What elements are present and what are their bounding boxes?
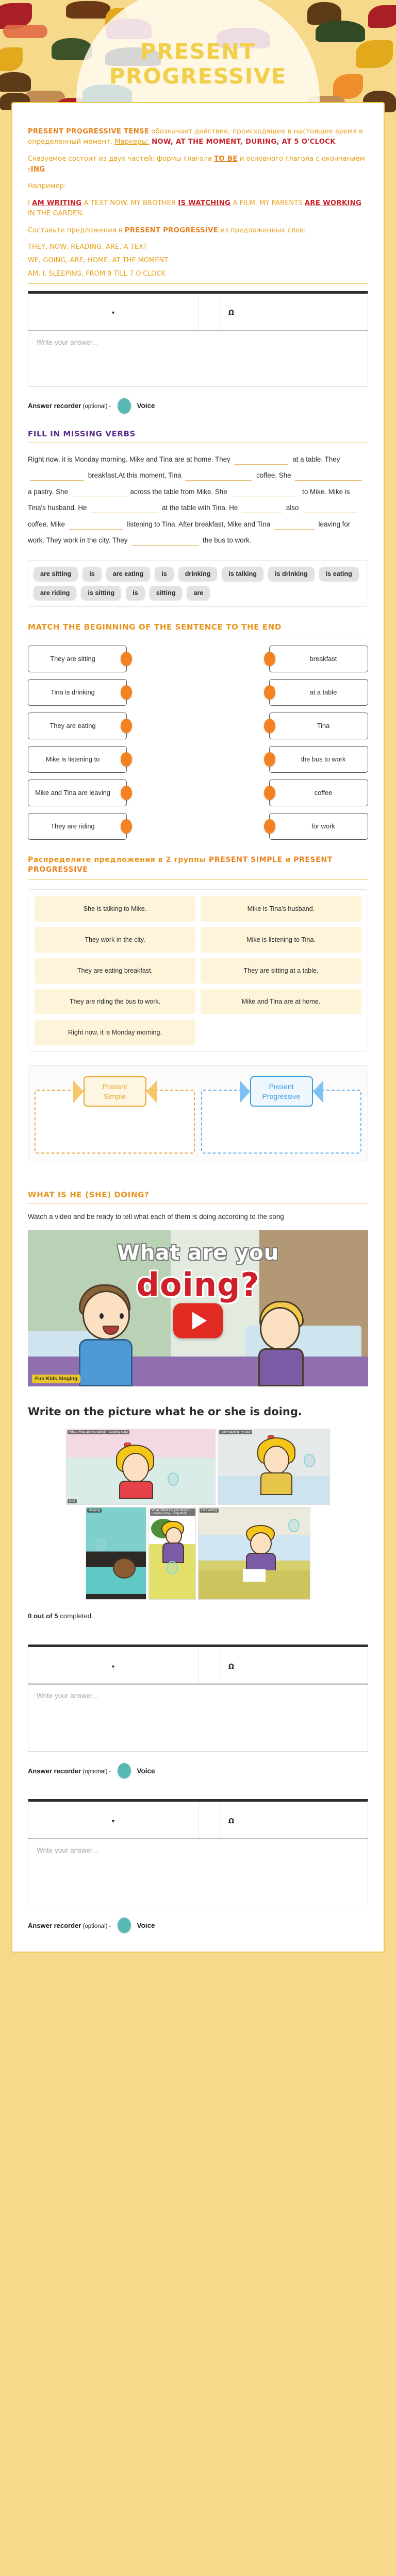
fill-text-part: Right now, it is Monday morning. Mike an…	[28, 455, 230, 463]
match-right-card[interactable]: for work	[269, 813, 368, 840]
figure-body	[119, 1481, 153, 1499]
answer-widget: ▼ Ω Write your answer... Answer recorder…	[28, 1645, 368, 1778]
page-title-line-2: PROGRESSIVE	[0, 64, 396, 89]
recorder-optional-text: (optional) -	[81, 1923, 111, 1929]
toolbar-spacer	[199, 294, 220, 330]
verb-chip[interactable]: are sitting	[34, 567, 78, 581]
verb-chip[interactable]: are	[187, 586, 210, 600]
picture-caption-bottom: 0:08	[68, 1499, 77, 1503]
figure-head	[250, 1532, 272, 1555]
section-heading-sort: Распределите предложения в 2 группы PRES…	[28, 855, 368, 880]
sort-card-tray: She is talking to Mike. Mike is Tina's h…	[28, 889, 368, 1052]
task-text-b: из предложенных слов:	[218, 227, 306, 234]
verb-chip[interactable]: drinking	[178, 567, 218, 581]
match-left-label: They are riding	[51, 822, 94, 830]
worksheet-page: PRESENT PROGRESSIVE PRESENT PROGRESSIVE …	[0, 0, 396, 1967]
answer-textarea[interactable]: Write your answer...	[28, 330, 368, 387]
markers-label: Маркеры:	[114, 138, 149, 146]
match-right-card[interactable]: breakfast	[269, 646, 368, 672]
bucket-label: Present Simple	[84, 1076, 146, 1107]
match-left-card[interactable]: Mike is listening to	[28, 746, 127, 773]
task-term: PRESENT PROGRESSIVE	[125, 227, 218, 234]
spacer	[28, 1161, 368, 1175]
ribbon-tail-left-icon	[73, 1080, 84, 1103]
special-character-icon: Ω	[228, 309, 234, 317]
fill-text-part: a pastry. She	[28, 488, 68, 496]
bucket-ribbon: Present Simple	[73, 1076, 157, 1107]
bucket-label-line-1: Present	[102, 1082, 127, 1091]
match-right-card[interactable]: at a table	[269, 679, 368, 706]
sort-bucket-tray: Present Simple Present Progressive	[28, 1065, 368, 1161]
verb-chip[interactable]: sitting	[150, 586, 183, 600]
match-right-label: the bus to work	[301, 755, 346, 763]
match-connector-knob[interactable]	[121, 819, 132, 834]
video-instruction: Watch a video and be ready to tell what …	[28, 1211, 368, 1223]
match-connector-knob[interactable]	[121, 685, 132, 700]
match-left-card[interactable]: Mike and Tina are leaving	[28, 779, 127, 806]
special-character-button[interactable]: Ω	[220, 294, 368, 330]
match-connector-knob[interactable]	[264, 786, 275, 800]
picture-row: What, What are you doing? - Looking song…	[28, 1429, 368, 1505]
picture-hotspot[interactable]	[288, 1519, 300, 1532]
fill-text-part: across the table from Mike. She	[130, 488, 227, 496]
fill-blank[interactable]	[69, 529, 123, 530]
grammar-paragraph-2: Сказуемое состоит из двух частей: формы …	[28, 154, 368, 175]
sort-heading-a: Распределите предложения в	[28, 856, 166, 864]
fill-blank[interactable]	[72, 497, 126, 497]
match-right-label: at a table	[310, 688, 337, 696]
match-left-label: Mike and Tina are leaving	[35, 789, 110, 796]
verb-chip[interactable]: is eating	[319, 567, 359, 581]
ribbon-tail-left-icon	[240, 1080, 250, 1103]
match-left-label: They are eating	[50, 722, 96, 730]
fill-text-part: the bus to work.	[203, 536, 252, 544]
match-connector-knob[interactable]	[264, 752, 275, 767]
section-heading-video: WHAT IS HE (SHE) DOING?	[28, 1190, 368, 1204]
example-text-2: A TEXT NOW. MY BROTHER	[81, 199, 178, 207]
sort-card[interactable]: Mike is listening to Tina.	[201, 927, 361, 953]
sort-card[interactable]: She is talking to Mike.	[35, 896, 195, 922]
sort-card[interactable]: Right now, it is Monday morning.	[35, 1020, 195, 1045]
sort-card[interactable]: They are riding the bus to work.	[35, 989, 195, 1014]
match-row: They are eating Tina	[28, 713, 368, 739]
match-row: Mike is listening to the bus to work	[28, 746, 368, 773]
voice-label: Voice	[137, 1922, 155, 1929]
recorder-label-text: Answer recorder	[28, 402, 81, 410]
answer-placeholder: Write your answer...	[37, 338, 98, 346]
verb-chip[interactable]: are riding	[34, 586, 76, 600]
toolbar-spacer	[199, 1647, 220, 1683]
fill-blank[interactable]	[274, 529, 315, 530]
fill-blank[interactable]	[303, 513, 357, 513]
chevron-down-icon: ▼	[111, 311, 115, 315]
grammar-text-a: Сказуемое состоит из двух частей: формы …	[28, 155, 214, 163]
grammar-examples: I AM WRITING A TEXT NOW. MY BROTHER IS W…	[28, 198, 368, 219]
fill-text-part: breakfast.At this moment, Tina	[88, 471, 181, 479]
match-connector-knob[interactable]	[264, 685, 275, 700]
example-verb-1: AM WRITING	[32, 199, 81, 207]
picture-girl-washing-face[interactable]: I am washing my face	[218, 1429, 330, 1505]
ing-term: -ING	[28, 165, 45, 173]
fill-blank[interactable]	[91, 513, 158, 513]
match-row: Mike and Tina are leaving coffee	[28, 779, 368, 806]
answer-widget: ▼ Ω Write your answer... Answer recorder…	[28, 1799, 368, 1933]
toolbar-spacer	[199, 1802, 220, 1838]
match-right-card[interactable]: the bus to work	[269, 746, 368, 773]
record-button[interactable]	[118, 1918, 131, 1933]
answer-widget: ▼ Ω Write your answer... Answer recorder…	[28, 291, 368, 414]
figure-body	[260, 1472, 292, 1495]
recorder-optional-text: (optional) -	[81, 1769, 111, 1775]
match-connector-knob[interactable]	[121, 652, 132, 666]
sort-card[interactable]: They work in the city.	[35, 927, 195, 953]
toolbar-style-dropdown[interactable]: ▼	[28, 294, 199, 330]
to-be-term: TO BE	[214, 155, 237, 163]
fill-text-part: also	[286, 504, 299, 512]
picture-caption: What, What are you doing? - Looking song…	[150, 1509, 195, 1516]
sort-card[interactable]: Mike and Tina are at home.	[201, 989, 361, 1014]
example-text-4: IN THE GARDEN.	[28, 210, 84, 217]
match-row: Tina is drinking at a table	[28, 679, 368, 706]
picture-grid: What, What are you doing? - Looking song…	[28, 1429, 368, 1600]
bucket-present-progressive: Present Progressive	[201, 1076, 361, 1154]
leaf-decoration	[368, 5, 396, 28]
picture-hotspot[interactable]	[168, 1472, 179, 1486]
leaf-decoration	[106, 19, 152, 39]
page-title-line-1: PRESENT	[0, 39, 396, 64]
ribbon-tail-right-icon	[313, 1080, 323, 1103]
figure-body	[162, 1543, 184, 1563]
sort-heading-number: 2	[166, 856, 171, 864]
verb-chip[interactable]: is drinking	[268, 567, 315, 581]
verb-chip[interactable]: is	[126, 586, 145, 600]
figure-head	[122, 1453, 149, 1483]
voice-label: Voice	[137, 402, 155, 410]
content-sheet: PRESENT PROGRESSIVE TENSE обозначает дей…	[11, 102, 385, 1953]
picture-hotspot[interactable]	[95, 1537, 107, 1551]
match-connector-knob[interactable]	[121, 786, 132, 800]
answer-recorder: Answer recorder (optional) - Voice	[28, 1918, 368, 1933]
picture-caption: I am writing	[200, 1509, 219, 1513]
answer-placeholder: Write your answer...	[37, 1846, 98, 1854]
example-text-3: A FILM. MY PARENTS	[230, 199, 305, 207]
fill-blank[interactable]	[295, 480, 362, 481]
picture-girl-walking-outside[interactable]: What, What are you doing? - Looking song…	[148, 1507, 196, 1600]
figure-head	[113, 1558, 136, 1579]
fill-text-part: listening to Tina. After breakfast, Mike…	[127, 520, 270, 528]
fill-blank[interactable]	[242, 513, 282, 513]
chevron-down-icon: ▼	[111, 1819, 115, 1824]
video-girl-body	[258, 1348, 304, 1386]
section-heading-match: MATCH THE BEGINNING OF THE SENTENCE TO T…	[28, 622, 368, 636]
bucket-label: Present Progressive	[250, 1076, 313, 1107]
match-connector-knob[interactable]	[264, 819, 275, 834]
picture-boy-sleeping-in-bed[interactable]: sleeping	[86, 1507, 146, 1600]
picture-boy-writing-at-desk[interactable]: I am writing	[198, 1507, 310, 1600]
markers-list: NOW, AT THE MOMENT, DURING, AT 5 O'CLOCK	[149, 138, 336, 146]
recorder-label: Answer recorder (optional) -	[28, 1767, 111, 1775]
match-right-label: breakfast	[310, 655, 337, 663]
verb-chip[interactable]: is	[155, 567, 174, 581]
sort-card[interactable]: They are sitting at a table.	[201, 958, 361, 984]
fill-blank[interactable]	[30, 480, 84, 481]
picture-girl-eating-in-kitchen[interactable]: What, What are you doing? - Looking song…	[66, 1429, 216, 1505]
special-character-icon: Ω	[228, 1818, 234, 1825]
bucket-present-simple: Present Simple	[35, 1076, 195, 1154]
task-item: AM, I, SLEEPING, FROM 9 TILL 7 O'CLOCK	[28, 270, 368, 278]
section-heading-pictures: Write on the picture what he or she is d…	[28, 1404, 368, 1419]
verb-chip[interactable]: is	[82, 567, 102, 581]
match-row: They are sitting breakfast	[28, 646, 368, 672]
sort-heading-term-1: PRESENT SIMPLE	[209, 856, 283, 864]
example-text-1: I	[28, 199, 32, 207]
task-instruction: Составьте предложения в PRESENT PROGRESS…	[28, 226, 368, 236]
record-button[interactable]	[118, 1763, 131, 1778]
fill-text-part: at a table. They	[292, 455, 340, 463]
video-title-line-1: What are you	[28, 1241, 368, 1265]
play-triangle-icon	[192, 1312, 207, 1329]
fill-text-part: coffee. Mike	[28, 520, 65, 528]
progress-status: 0 out of 5 completed.	[28, 1612, 368, 1620]
figure-head	[263, 1446, 289, 1475]
fill-text-part: coffee. She	[256, 471, 291, 479]
match-connector-knob[interactable]	[264, 719, 275, 733]
ribbon-tail-right-icon	[146, 1080, 157, 1103]
match-left-label: Tina is drinking	[51, 688, 95, 696]
match-left-card[interactable]: Tina is drinking	[28, 679, 127, 706]
play-button-icon[interactable]	[173, 1303, 223, 1338]
video-channel-badge: Fun Kids Singing	[32, 1375, 80, 1383]
sort-card[interactable]: They are eating breakfast.	[35, 958, 195, 984]
record-button[interactable]	[118, 398, 131, 414]
example-verb-3: ARE WORKING	[305, 199, 361, 207]
fill-blank[interactable]	[234, 464, 288, 465]
match-left-card[interactable]: They are riding	[28, 813, 127, 840]
recorder-label: Answer recorder (optional) -	[28, 402, 111, 410]
example-label: Например:	[28, 181, 368, 192]
answer-recorder: Answer recorder (optional) - Voice	[28, 398, 368, 414]
bucket-label-line-2: Simple	[104, 1092, 126, 1100]
picture-hotspot[interactable]	[304, 1454, 315, 1467]
match-left-label: They are sitting	[50, 655, 95, 663]
sort-heading-b: группы	[171, 856, 209, 864]
answer-textarea[interactable]: Write your answer...	[28, 1838, 368, 1906]
video-player[interactable]: What are you doing? Fun Kids Singing	[28, 1230, 368, 1386]
bucket-ribbon: Present Progressive	[240, 1076, 323, 1107]
match-exercise: They are sitting breakfast Tina is drink…	[28, 646, 368, 840]
progress-count: 0 out of 5	[28, 1612, 58, 1620]
fill-in-paragraph: Right now, it is Monday morning. Mike an…	[28, 451, 368, 549]
match-connector-knob[interactable]	[121, 752, 132, 767]
task-item: THEY, NOW, READING, ARE, A TEXT	[28, 243, 368, 251]
picture-row: sleeping What, What are you doing? - Loo…	[28, 1507, 368, 1600]
fill-blank[interactable]	[131, 545, 199, 546]
fill-blank[interactable]	[231, 497, 298, 497]
picture-caption: What, What are you doing? - Looking song	[68, 1430, 129, 1434]
answer-recorder: Answer recorder (optional) - Voice	[28, 1763, 368, 1778]
editor-toolbar: ▼ Ω	[28, 1799, 368, 1838]
picture-caption: sleeping	[87, 1509, 102, 1513]
task-item: WE, GOING, ARE, HOME, AT THE MOMENT	[28, 257, 368, 264]
video-girl-head	[260, 1307, 300, 1350]
match-row: They are riding for work	[28, 813, 368, 840]
special-character-button[interactable]: Ω	[220, 1802, 368, 1838]
match-left-label: Mike is listening to	[46, 755, 100, 763]
verb-chip-tray: are sitting is are eating is drinking is…	[28, 560, 368, 607]
grammar-paragraph-1: PRESENT PROGRESSIVE TENSE обозначает дей…	[28, 127, 368, 147]
progress-suffix: completed.	[58, 1612, 93, 1620]
grammar-text-b: и основного глагола с окончанием	[238, 155, 365, 163]
bucket-label-line-2: Progressive	[262, 1092, 301, 1100]
berry-branch-decoration	[3, 25, 47, 38]
leaf-decoration	[66, 1, 110, 19]
example-verb-2: IS WATCHING	[178, 199, 230, 207]
sort-heading-mid: и	[283, 856, 293, 864]
video-boy-eye	[120, 1313, 124, 1319]
special-character-button[interactable]: Ω	[220, 1647, 368, 1683]
fill-text-part: at the table with Tina. He	[162, 504, 238, 512]
page-title: PRESENT PROGRESSIVE	[0, 39, 396, 89]
answer-placeholder: Write your answer...	[37, 1692, 98, 1700]
section-heading-fill-verbs: FILL IN MISSING VERBS	[28, 429, 368, 443]
paper-sheet	[243, 1569, 266, 1582]
recorder-label-text: Answer recorder	[28, 1767, 81, 1775]
verb-chip[interactable]: is sitting	[81, 586, 121, 600]
task-text-a: Составьте предложения в	[28, 227, 125, 234]
divider	[28, 283, 368, 284]
figure-body	[246, 1553, 276, 1571]
match-connector-knob[interactable]	[264, 652, 275, 666]
verb-chip[interactable]: is talking	[222, 567, 263, 581]
match-right-label: coffee	[315, 789, 333, 796]
bucket-label-line-1: Present	[269, 1082, 293, 1091]
chevron-down-icon: ▼	[111, 1665, 115, 1669]
video-boy-body	[79, 1339, 133, 1386]
match-right-card[interactable]: Tina	[269, 713, 368, 739]
match-right-label: Tina	[317, 722, 329, 730]
match-left-card[interactable]: They are sitting	[28, 646, 127, 672]
verb-chip[interactable]: are eating	[106, 567, 151, 581]
editor-toolbar: ▼ Ω	[28, 1645, 368, 1684]
match-left-card[interactable]: They are eating	[28, 713, 127, 739]
recorder-optional-text: (optional) -	[81, 403, 111, 410]
sort-card[interactable]: Mike is Tina's husband.	[201, 896, 361, 922]
fill-blank[interactable]	[185, 480, 252, 481]
special-character-icon: Ω	[228, 1663, 234, 1671]
answer-textarea[interactable]: Write your answer...	[28, 1684, 368, 1752]
toolbar-style-dropdown[interactable]: ▼	[28, 1647, 199, 1683]
recorder-label: Answer recorder (optional) -	[28, 1922, 111, 1929]
figure-head	[166, 1527, 182, 1545]
grammar-term: PRESENT PROGRESSIVE TENSE	[28, 128, 149, 135]
video-title-line-2: doing?	[28, 1266, 368, 1303]
toolbar-style-dropdown[interactable]: ▼	[28, 1802, 199, 1838]
match-right-card[interactable]: coffee	[269, 779, 368, 806]
page-bottom-spacer	[0, 1953, 396, 1967]
match-right-label: for work	[311, 822, 335, 830]
voice-label: Voice	[137, 1767, 155, 1775]
match-connector-knob[interactable]	[121, 719, 132, 733]
video-boy-eye	[100, 1313, 104, 1319]
editor-toolbar: ▼ Ω	[28, 291, 368, 330]
picture-caption: I am washing my face	[219, 1430, 252, 1434]
picture-hotspot[interactable]	[167, 1561, 178, 1574]
recorder-label-text: Answer recorder	[28, 1922, 81, 1929]
